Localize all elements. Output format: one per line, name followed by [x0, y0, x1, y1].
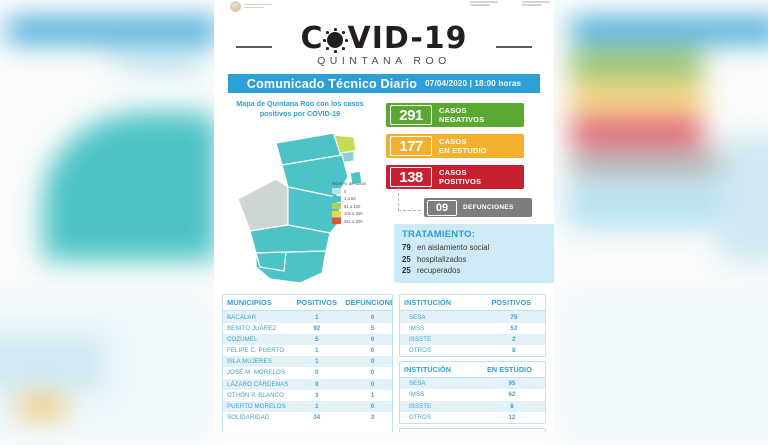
legend-item: 51 a 100 — [332, 203, 366, 209]
inst-header-name: INSTITUCIÓN — [400, 295, 478, 311]
legend-label: 1 a 50 — [344, 196, 356, 201]
municipio-name: OTHÓN P. BLANCO — [223, 390, 292, 401]
tratamiento-num: 25 — [402, 254, 417, 266]
legend-label: 101 a 250 — [344, 211, 363, 216]
table-row: SOLIDARIDAD343 — [223, 412, 393, 423]
table-row: SESA75 — [400, 311, 545, 323]
stat-defunciones: 09 DEFUNCIONES — [424, 198, 532, 217]
municipio-positivos: 3 — [292, 390, 341, 401]
stat-en-estudio-line1: CASOS — [439, 137, 467, 146]
municipio-positivos: 34 — [292, 412, 341, 423]
stat-negativos-label: CASOS NEGATIVOS — [439, 106, 484, 125]
municipio-name: COZUMEL — [223, 334, 292, 345]
stat-en-estudio-value: 177 — [390, 136, 432, 156]
tratamiento-text: en aislamiento social — [417, 243, 489, 252]
municipio-name: PUERTO MORELOS — [223, 401, 292, 412]
tratamiento-row: 25hospitalizados — [402, 254, 552, 266]
table-row: OTROS8 — [400, 345, 545, 356]
legend-title: Número de casos — [332, 181, 366, 186]
stat-negativos: 291 CASOS NEGATIVOS — [386, 103, 524, 127]
seal-icon — [230, 1, 241, 12]
municipio-name: BACALAR — [223, 311, 292, 323]
municipio-defunciones: 0 — [341, 334, 393, 345]
instituciones-column: INSTITUCIÓN POSITIVOS SESA75 IMSS53 ISSS… — [399, 294, 546, 432]
title-rest: VID-19 — [347, 21, 467, 56]
municipio-name: BENITO JUÁREZ — [223, 323, 292, 334]
legend-label: 51 a 100 — [344, 204, 360, 209]
table-header-row: INSTITUCIÓN POSITIVOS — [400, 295, 545, 311]
bg-left-blue-strip — [0, 337, 104, 390]
table-row: COZUMEL50 — [223, 334, 393, 345]
banner-date: 07/04/2020 | 18:00 horas — [425, 79, 521, 88]
inst-value: 53 — [478, 323, 545, 334]
tratamiento-text: hospitalizados — [417, 255, 466, 264]
table-row: BENITO JUÁREZ925 — [223, 323, 393, 334]
inst-header-name: INSTITUCIÓN — [400, 362, 474, 378]
municipios-header-positivos: POSITIVOS — [292, 295, 341, 311]
municipio-positivos: 1 — [292, 401, 341, 412]
logo-text-lines — [244, 4, 272, 10]
inst-value: 75 — [478, 311, 545, 323]
table-row: IMSS53 — [400, 323, 545, 334]
bg-yellow-bar — [571, 87, 704, 110]
stat-positivos-line1: CASOS — [439, 168, 467, 177]
government-seal-logo — [230, 1, 272, 12]
table-row: OTROS12 — [400, 412, 545, 423]
legend-swatch — [332, 196, 341, 202]
stat-negativos-value: 291 — [390, 105, 432, 125]
municipios-header-defunciones: DEFUNCIONES — [341, 295, 393, 311]
table-row: FELIPE C. PUERTO10 — [223, 345, 393, 356]
table-row: JOSÉ M. MORELOS00 — [223, 367, 393, 378]
logo-text-lines — [522, 1, 550, 6]
legend-item: 101 a 250 — [332, 211, 366, 217]
instituciones-defunciones-table: INSTITUCIÓN DEFUNCIONES SESA3 IMSS4 — [399, 428, 546, 432]
page-title: CVID-19 — [300, 24, 467, 54]
stat-positivos-value: 138 — [390, 167, 432, 187]
table-row: ISSSTE8 — [400, 401, 545, 412]
table-row: PUERTO MORELOS10 — [223, 401, 393, 412]
table-row: ISSSTE2 — [400, 334, 545, 345]
ministry-logo — [522, 1, 550, 7]
stat-negativos-line2: NEGATIVOS — [439, 115, 484, 124]
table-row: ISLA MUJERES10 — [223, 356, 393, 367]
stat-positivos: 138 CASOS POSITIVOS — [386, 165, 524, 189]
municipio-defunciones: 5 — [341, 323, 393, 334]
tratamiento-num: 79 — [402, 242, 417, 254]
municipio-defunciones: 1 — [341, 390, 393, 401]
municipio-positivos: 92 — [292, 323, 341, 334]
municipios-table: MUNICIPIOS POSITIVOS DEFUNCIONES BACALAR… — [222, 294, 393, 432]
table-row: OTHÓN P. BLANCO31 — [223, 390, 393, 401]
inst-name: SESA — [400, 311, 478, 323]
municipio-name: LÁZARO CÁRDENAS — [223, 379, 292, 390]
inst-value: 62 — [474, 389, 545, 400]
tratamiento-title: TRATAMIENTO: — [402, 229, 552, 240]
inst-name: OTROS — [400, 412, 474, 423]
bg-blue-band-right — [571, 19, 768, 42]
stat-defunciones-value: 09 — [427, 200, 457, 216]
bg-orange-dot — [19, 398, 64, 415]
instituciones-estudio-table: INSTITUCIÓN EN ESTUDIO SESA95 IMSS62 ISS… — [399, 361, 546, 424]
municipio-defunciones: 0 — [341, 345, 393, 356]
tratamiento-num: 25 — [402, 265, 417, 277]
legend-swatch — [332, 218, 341, 224]
legend-label: 251 a 500 — [344, 219, 363, 224]
logo-text-lines — [470, 1, 498, 7]
title-rule-right — [496, 46, 532, 48]
statistics-column: 291 CASOS NEGATIVOS 177 CASOS EN ESTUDIO… — [386, 99, 554, 286]
poster-subtitle: QUINTANA ROO — [214, 55, 554, 67]
bg-red-bar — [571, 121, 704, 144]
dashed-connector — [398, 188, 421, 211]
inst-value: 12 — [474, 412, 545, 423]
municipio-defunciones: 0 — [341, 367, 393, 378]
municipios-header-name: MUNICIPIOS — [223, 295, 292, 311]
logo-strip — [214, 0, 554, 16]
stat-en-estudio-line2: EN ESTUDIO — [439, 146, 487, 155]
inst-header-metric: EN ESTUDIO — [474, 362, 545, 378]
map-title: Mapa de Quintana Roo con los casos posit… — [214, 99, 386, 118]
inst-name: ISSSTE — [400, 401, 474, 412]
inst-name: SESA — [400, 378, 474, 390]
title-letter-c: C — [300, 21, 323, 56]
municipio-positivos: 0 — [292, 379, 341, 390]
bg-lower-right-table — [566, 294, 768, 445]
stat-positivos-label: CASOS POSITIVOS — [439, 168, 481, 187]
inst-name: IMSS — [400, 389, 474, 400]
covid-report-poster: CVID-19 QUINTANA ROO Comunicado Técnico … — [214, 0, 554, 432]
inst-header-metric: POSITIVOS — [478, 295, 545, 311]
map-and-stats: Mapa de Quintana Roo con los casos posit… — [214, 99, 554, 286]
tables-section: MUNICIPIOS POSITIVOS DEFUNCIONES BACALAR… — [222, 294, 546, 432]
coronavirus-icon — [323, 28, 347, 52]
poster-title-block: CVID-19 QUINTANA ROO — [214, 24, 554, 67]
banner-title: Comunicado Técnico Diario — [247, 77, 417, 91]
legend-swatch — [332, 188, 341, 194]
legend-item: 0 — [332, 188, 366, 194]
municipio-name: FELIPE C. PUERTO — [223, 345, 292, 356]
stat-defunciones-label: DEFUNCIONES — [463, 204, 514, 211]
tratamiento-row: 25recuperados — [402, 265, 552, 277]
map-column: Mapa de Quintana Roo con los casos posit… — [214, 99, 386, 286]
municipio-positivos: 1 — [292, 311, 341, 323]
bg-gray-bar — [571, 155, 735, 172]
bg-blue-band-left — [7, 19, 219, 42]
municipio-positivos: 0 — [292, 367, 341, 378]
stat-en-estudio: 177 CASOS EN ESTUDIO — [386, 134, 524, 158]
stat-en-estudio-label: CASOS EN ESTUDIO — [439, 137, 487, 156]
inst-name: OTROS — [400, 345, 478, 356]
table-header-row: MUNICIPIOS POSITIVOS DEFUNCIONES — [223, 295, 393, 311]
inst-name: ISSSTE — [400, 334, 478, 345]
defunciones-row: 09 DEFUNCIONES — [386, 194, 554, 220]
legend-label: 0 — [344, 189, 346, 194]
map-legend: Número de casos 0 1 a 50 51 a 100 101 a … — [332, 181, 366, 226]
municipio-positivos: 1 — [292, 345, 341, 356]
stat-negativos-line1: CASOS — [439, 106, 467, 115]
daily-report-banner: Comunicado Técnico Diario 07/04/2020 | 1… — [228, 74, 540, 93]
municipio-defunciones: 0 — [341, 401, 393, 412]
municipio-defunciones: 0 — [341, 311, 393, 323]
legend-item: 1 a 50 — [332, 196, 366, 202]
tratamiento-text: recuperados — [417, 266, 460, 275]
inst-value: 8 — [478, 345, 545, 356]
table-row: LÁZARO CÁRDENAS00 — [223, 379, 393, 390]
inst-name: IMSS — [400, 323, 478, 334]
bg-text-left — [104, 55, 205, 61]
title-rule-left — [236, 46, 272, 48]
legend-item: 251 a 500 — [332, 218, 366, 224]
municipio-defunciones: 0 — [341, 356, 393, 367]
table-row: SESA95 — [400, 378, 545, 390]
table-row: IMSS62 — [400, 389, 545, 400]
legend-swatch — [332, 211, 341, 217]
inst-value: 8 — [474, 401, 545, 412]
inst-value: 2 — [478, 334, 545, 345]
table-row: BACALAR10 — [223, 311, 393, 323]
legend-swatch — [332, 203, 341, 209]
municipio-name: JOSÉ M. MORELOS — [223, 367, 292, 378]
municipio-positivos: 5 — [292, 334, 341, 345]
table-header-row: INSTITUCIÓN EN ESTUDIO — [400, 362, 545, 378]
municipio-defunciones: 0 — [341, 379, 393, 390]
bg-green-bar — [571, 53, 704, 76]
bg-right-blue-strip — [719, 135, 768, 262]
municipio-positivos: 1 — [292, 356, 341, 367]
municipio-name: SOLIDARIDAD — [223, 412, 292, 423]
tratamiento-box: TRATAMIENTO: 79en aislamiento social 25h… — [394, 224, 554, 283]
bg-text-left-2 — [125, 65, 199, 70]
municipio-name: ISLA MUJERES — [223, 356, 292, 367]
stat-positivos-line2: POSITIVOS — [439, 177, 481, 186]
tratamiento-row: 79en aislamiento social — [402, 242, 552, 254]
municipio-defunciones: 3 — [341, 412, 393, 423]
state-logo — [470, 1, 498, 7]
inst-value: 95 — [474, 378, 545, 390]
instituciones-positivos-table: INSTITUCIÓN POSITIVOS SESA75 IMSS53 ISSS… — [399, 294, 546, 357]
